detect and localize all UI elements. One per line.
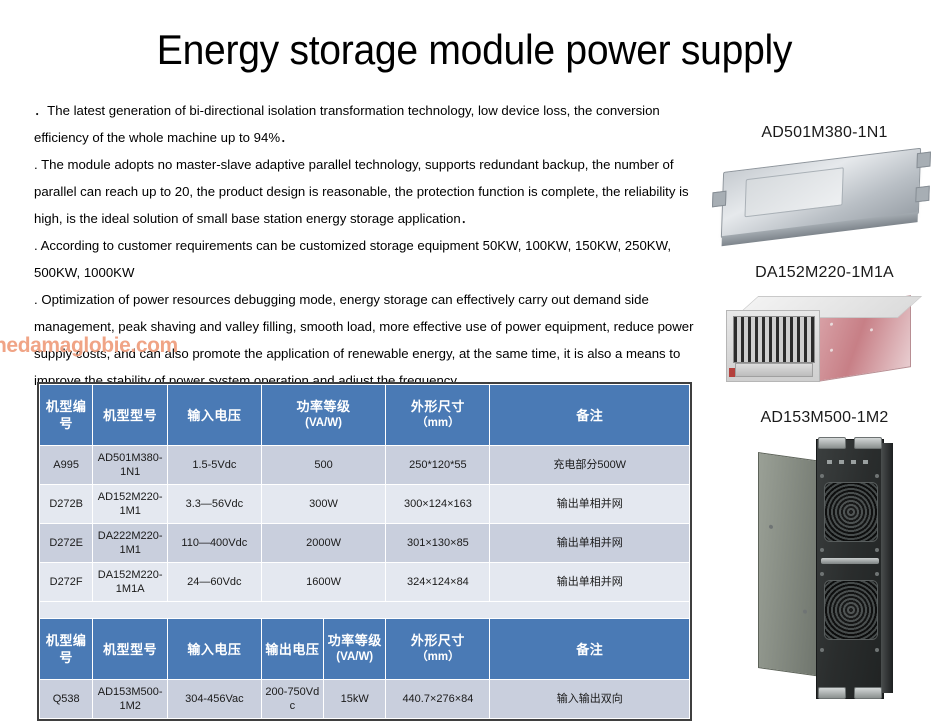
col-header-model-type: 机型型号: [93, 619, 168, 680]
col-header-remark: 备注: [490, 619, 690, 680]
cell-model-no: A995: [40, 446, 93, 485]
col-header-remark: 备注: [490, 385, 690, 446]
body-paragraph-3: . According to customer requirements can…: [34, 232, 706, 286]
screw-icon: [875, 548, 879, 552]
slide-root: Energy storage module power supply ．The …: [0, 0, 949, 708]
table-row: Q538 AD153M500-1M2 304-456Vac 200-750Vdc…: [40, 680, 690, 719]
cell-dimensions: 301×130×85: [386, 524, 490, 563]
cell-model-no: D272F: [40, 563, 93, 602]
screw-icon: [820, 474, 824, 478]
col-header-model-type: 机型型号: [93, 385, 168, 446]
cell-output-voltage: 200-750Vdc: [261, 680, 323, 719]
module-front-lip: [722, 212, 918, 246]
body-paragraph-4: . Optimization of power resources debugg…: [34, 286, 706, 394]
cell-power-level: 500: [261, 446, 386, 485]
screw-icon: [830, 322, 833, 325]
table-row: D272E DA222M220-1M1 110—400Vdc 2000W 301…: [40, 524, 690, 563]
module-connector-slot: [735, 363, 813, 377]
product-photo-rack-module: [700, 288, 949, 392]
cell-power-level: 15kW: [324, 680, 386, 719]
col-header-output-voltage: 输出电压: [261, 619, 323, 680]
spec-table-body: 机型编号 机型型号 输入电压 功率等级 (VA/W) 外形尺寸 （mm） 备注 …: [40, 385, 690, 719]
body-paragraph-1: ．The latest generation of bi-directional…: [34, 97, 706, 151]
screw-icon: [820, 572, 824, 576]
module-mount-tab: [712, 191, 727, 208]
body-copy: ．The latest generation of bi-directional…: [34, 97, 706, 394]
screw-icon: [820, 648, 824, 652]
table-header-row-1: 机型编号 机型型号 输入电压 功率等级 (VA/W) 外形尺寸 （mm） 备注: [40, 385, 690, 446]
table-header-row-2: 机型编号 机型型号 输入电压 输出电压 功率等级 (VA/W) 外形尺寸 （mm…: [40, 619, 690, 680]
col-header-input-voltage: 输入电压: [168, 619, 262, 680]
screw-icon: [875, 572, 879, 576]
cell-remark: 充电部分500W: [490, 446, 690, 485]
cell-model-type: AD501M380-1N1: [93, 446, 168, 485]
screw-icon: [803, 609, 807, 614]
cell-model-no: D272B: [40, 485, 93, 524]
col-header-power-level: 功率等级 (VA/W): [324, 619, 386, 680]
cell-input-voltage: 24—60Vdc: [168, 563, 262, 602]
col-header-dimensions: 外形尺寸 （mm）: [386, 385, 490, 446]
product-card-ad153m500-1m2: AD153M500-1M2: [700, 409, 949, 705]
col-header-power-level: 功率等级 (VA/W): [261, 385, 386, 446]
screw-icon: [870, 328, 873, 331]
cell-model-type: DA222M220-1M1: [93, 524, 168, 563]
cell-input-voltage: 3.3—56Vdc: [168, 485, 262, 524]
spec-table: 机型编号 机型型号 输入电压 功率等级 (VA/W) 外形尺寸 （mm） 备注 …: [37, 382, 692, 721]
rack-mount-bracket: [818, 437, 846, 449]
module-top-inset: [744, 167, 843, 217]
product-caption: AD153M500-1M2: [700, 409, 949, 427]
ventilation-grille-icon: [733, 316, 815, 363]
cell-remark: 输入输出双向: [490, 680, 690, 719]
cell-remark: 输出单相并网: [490, 563, 690, 602]
rack-mount-bracket: [818, 687, 846, 699]
cell-input-voltage: 304-456Vac: [168, 680, 262, 719]
fan-grille-icon: [824, 482, 878, 542]
cell-power-level: 300W: [261, 485, 386, 524]
flat-module-graphic: [721, 148, 921, 238]
cell-dimensions: 300×124×163: [386, 485, 490, 524]
page-title: Energy storage module power supply: [33, 26, 916, 74]
module-handle: [729, 368, 735, 377]
product-caption: DA152M220-1M1A: [700, 264, 949, 282]
cell-power-level: 1600W: [261, 563, 386, 602]
cell-remark: 输出单相并网: [490, 485, 690, 524]
cell-model-type: AD152M220-1M1: [93, 485, 168, 524]
module-mount-tab: [916, 151, 931, 168]
table-row: D272F DA152M220-1M1A 24—60Vdc 1600W 324×…: [40, 563, 690, 602]
table-row: D272B AD152M220-1M1 3.3—56Vdc 300W 300×1…: [40, 485, 690, 524]
cell-model-type: DA152M220-1M1A: [93, 563, 168, 602]
cell-power-level: 2000W: [261, 524, 386, 563]
cell-model-type: AD153M500-1M2: [93, 680, 168, 719]
module-right-edge: [881, 443, 893, 693]
module-side-panel: [758, 452, 822, 677]
col-header-dimensions: 外形尺寸 （mm）: [386, 619, 490, 680]
cell-model-no: D272E: [40, 524, 93, 563]
status-led-strip-icon: [827, 460, 873, 464]
product-photo-flat-module: [700, 148, 949, 248]
cell-remark: 输出单相并网: [490, 524, 690, 563]
module-front-panel: [726, 310, 820, 382]
body-paragraph-2: . The module adopts no master-slave adap…: [34, 151, 706, 232]
product-card-ad501m380-1n1: AD501M380-1N1: [700, 124, 949, 248]
table-section-spacer: [40, 602, 690, 619]
module-mount-tab: [915, 186, 930, 203]
product-card-da152m220-1m1a: DA152M220-1M1A: [700, 264, 949, 392]
screw-icon: [830, 348, 833, 351]
cell-input-voltage: 1.5-5Vdc: [168, 446, 262, 485]
rack-mount-bracket: [854, 437, 882, 449]
module-handle: [821, 558, 879, 564]
rack-mount-bracket: [854, 687, 882, 699]
col-header-model-no: 机型编号: [40, 385, 93, 446]
cell-model-no: Q538: [40, 680, 93, 719]
screw-icon: [769, 525, 773, 530]
cell-dimensions: 250*120*55: [386, 446, 490, 485]
module-front-panel: [816, 439, 884, 699]
cell-dimensions: 440.7×276×84: [386, 680, 490, 719]
product-caption: AD501M380-1N1: [700, 124, 949, 142]
table-row: A995 AD501M380-1N1 1.5-5Vdc 500 250*120*…: [40, 446, 690, 485]
product-photo-tower-module: [700, 433, 949, 705]
screw-icon: [820, 548, 824, 552]
screw-icon: [875, 648, 879, 652]
cell-input-voltage: 110—400Vdc: [168, 524, 262, 563]
col-header-model-no: 机型编号: [40, 619, 93, 680]
rack-module-graphic: [726, 296, 910, 380]
cell-dimensions: 324×124×84: [386, 563, 490, 602]
fan-grille-icon: [824, 580, 878, 640]
col-header-input-voltage: 输入电压: [168, 385, 262, 446]
screw-icon: [875, 474, 879, 478]
tower-module-graphic: [758, 439, 908, 697]
